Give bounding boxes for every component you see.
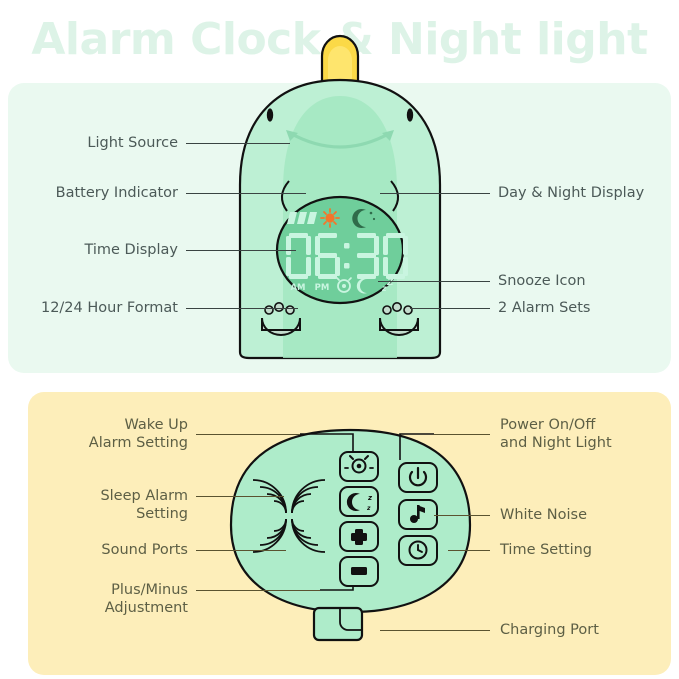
leader-sleep-alarm <box>196 496 284 497</box>
leader-2-alarm-sets <box>410 308 490 309</box>
leader-battery-indicator <box>186 193 306 194</box>
leader-white-noise <box>434 515 490 516</box>
leader-light-source <box>186 143 290 144</box>
leader-time-setting <box>448 550 490 551</box>
label-snooze-icon: Snooze Icon <box>498 272 673 290</box>
label-12-24-hour-format: 12/24 Hour Format <box>12 299 178 317</box>
leader-time-display <box>186 250 296 251</box>
leader-sound-ports <box>196 550 286 551</box>
leader-12-24-format <box>186 308 298 309</box>
label-plus-minus-adjustment: Plus/Minus Adjustment <box>24 581 188 617</box>
leader-snooze-icon <box>378 281 490 282</box>
label-day-night-display: Day & Night Display <box>498 184 673 202</box>
panel-front-view <box>8 83 671 373</box>
leader-charging-port <box>380 630 490 631</box>
label-light-source: Light Source <box>20 134 178 152</box>
label-time-setting: Time Setting <box>500 541 672 559</box>
label-charging-port: Charging Port <box>500 621 672 639</box>
label-white-noise: White Noise <box>500 506 672 524</box>
label-2-alarm-sets: 2 Alarm Sets <box>498 299 673 317</box>
label-wake-up-alarm-setting: Wake Up Alarm Setting <box>24 416 188 452</box>
page-title: Alarm Clock & Night light <box>0 14 679 65</box>
label-sound-ports: Sound Ports <box>24 541 188 559</box>
label-power-on-off-night-light: Power On/Off and Night Light <box>500 416 672 452</box>
leader-day-night-display <box>380 193 490 194</box>
leader-power-night-light <box>434 434 490 435</box>
leader-wake-up-alarm <box>196 434 300 435</box>
label-time-display: Time Display <box>20 241 178 259</box>
label-sleep-alarm-setting: Sleep Alarm Setting <box>24 487 188 523</box>
label-battery-indicator: Battery Indicator <box>20 184 178 202</box>
infographic-root: Alarm Clock & Night light Light Source B… <box>0 0 679 679</box>
leader-plus-minus <box>196 590 320 591</box>
